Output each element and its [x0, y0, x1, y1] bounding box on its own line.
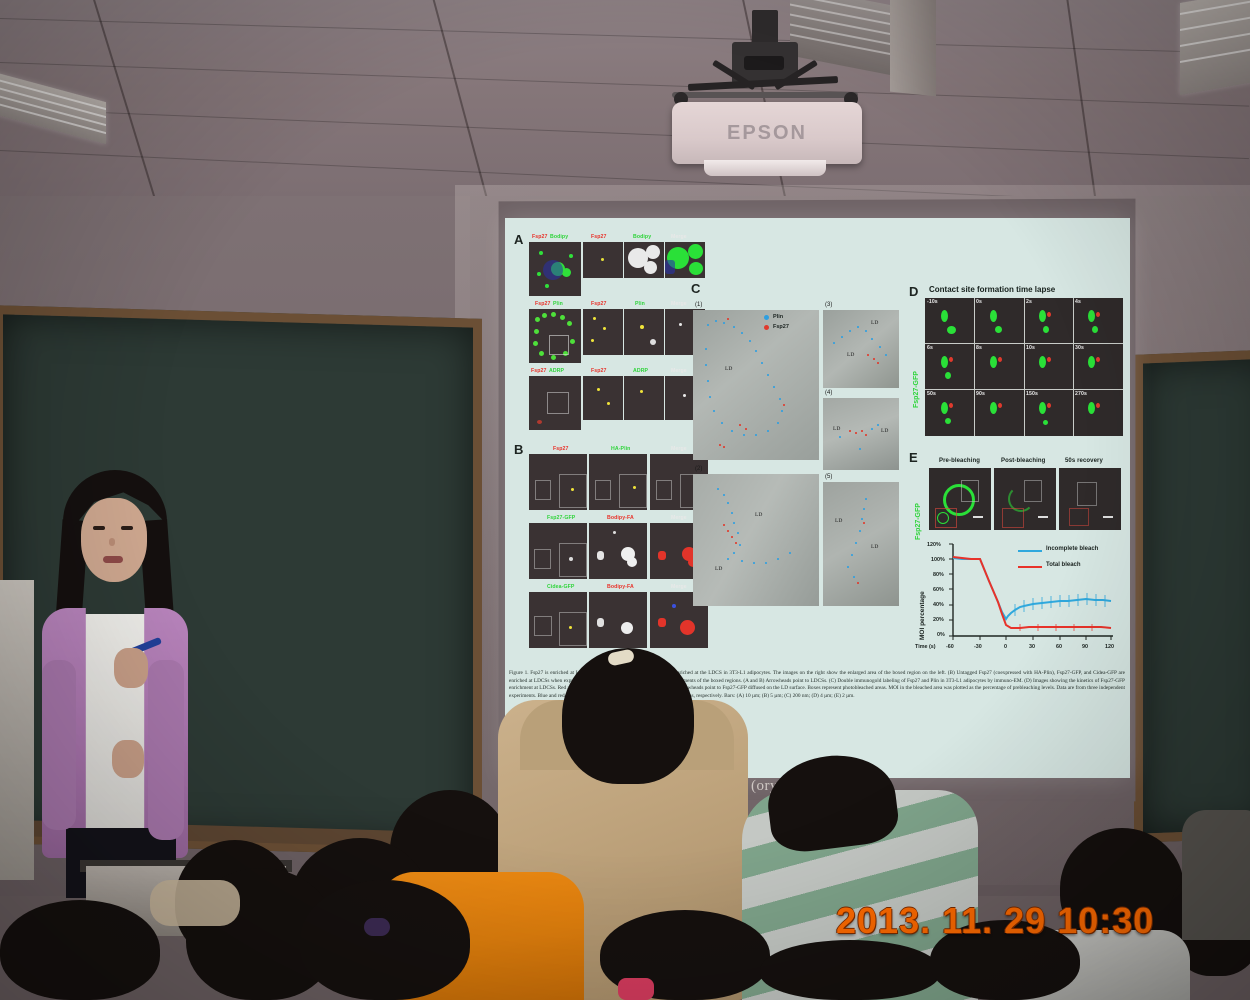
- panel-c-letter: C: [691, 281, 700, 296]
- chart-plot-area: [913, 536, 1123, 664]
- panel-a-r3-col3: Merge: [671, 368, 687, 374]
- chart-legend-line-incomplete: [1018, 550, 1042, 552]
- panel-a-r2-pair-left: Fsp27: [535, 301, 551, 307]
- chart-xtick-90: 90: [1082, 644, 1088, 650]
- projector-brand-label: EPSON: [672, 122, 862, 145]
- micrograph-a2-c1: [583, 309, 623, 355]
- panel-d-t8: 50s: [927, 391, 936, 397]
- photo-canvas: EPSON A Fsp27 Bodipy Fsp27 Bodipy Merge: [0, 0, 1250, 1000]
- micrograph-c2: LD LD: [693, 474, 819, 606]
- projector-lens: [704, 160, 826, 176]
- micrograph-a1-c2: [624, 242, 664, 278]
- chart-legend-incomplete-bleach: Incomplete bleach: [1046, 546, 1098, 552]
- panel-d-t11: 270s: [1075, 391, 1087, 397]
- panel-d-t10: 150s: [1026, 391, 1038, 397]
- micrograph-e-postbleach: [994, 468, 1056, 530]
- panel-d-t7: 30s: [1075, 345, 1084, 351]
- frap-chart: MOI percentage 120% 100% 80% 60% 40% 20%…: [913, 536, 1123, 664]
- micrograph-a1-overview: [529, 242, 581, 296]
- chart-ytick-0: 0%: [937, 632, 945, 638]
- presenter-hand-lower: [112, 740, 144, 778]
- panel-d-axis-label: Fsp27-GFP: [913, 371, 920, 408]
- micrograph-a1-c1: [583, 242, 623, 278]
- audience-head-front-5: [760, 940, 940, 1000]
- chart-xtick-30: 30: [1029, 644, 1035, 650]
- panel-a-r3-col2: ADRP: [633, 368, 648, 374]
- panel-d-t9: 90s: [976, 391, 985, 397]
- chart-xtick--60: -60: [946, 644, 954, 650]
- panel-c4-ld-label-1: LD: [833, 426, 840, 432]
- projector: EPSON: [652, 10, 882, 200]
- panel-e-letter: E: [909, 450, 918, 465]
- panel-c2-ld-label-2: LD: [715, 566, 722, 572]
- panel-a-r1-col3: Merge: [671, 234, 687, 240]
- chart-ytick-20: 20%: [933, 617, 944, 623]
- panel-c5-ld-label-1: LD: [835, 518, 842, 524]
- panel-b-r2-c1: Fsp27-GFP: [547, 515, 575, 521]
- panel-a-r2-pair-right: Plin: [553, 301, 563, 307]
- panel-b-r3-c2: Bodipy-FA: [607, 584, 634, 590]
- ceiling: [0, 0, 1250, 200]
- camera-timestamp: 2013. 11. 29 10:30: [836, 900, 1154, 942]
- projector-support-bar: [672, 92, 858, 98]
- audience-coat-grey-right: [1182, 810, 1250, 940]
- micrograph-c5: LD LD: [823, 482, 899, 606]
- panel-d-letter: D: [909, 284, 918, 299]
- chart-ytick-100: 100%: [931, 557, 945, 563]
- panel-c2-ld-label-1: LD: [755, 512, 762, 518]
- audience-fur-collar: [150, 880, 240, 926]
- micrograph-b3-c1: [529, 592, 587, 648]
- panel-c-sub4-label: (4): [825, 390, 832, 396]
- panel-a-r3-col1: Fsp27: [591, 368, 607, 374]
- micrograph-a3-c2: [624, 376, 664, 420]
- chart-xtick-60: 60: [1056, 644, 1062, 650]
- chart-ytick-60: 60%: [933, 587, 944, 593]
- audience-head-ponytail: [562, 648, 694, 784]
- panel-d-t6: 10s: [1026, 345, 1035, 351]
- panel-a-letter: A: [514, 232, 523, 247]
- panel-d-t5: 8s: [976, 345, 982, 351]
- micrograph-a2-overview: [529, 309, 581, 363]
- panel-b-r3-c1: Cidea-GFP: [547, 584, 574, 590]
- panel-d-t1: 0s: [976, 299, 982, 305]
- panel-e-col1-label: Pre-bleaching: [939, 458, 980, 464]
- legend-swatch-plin: [764, 315, 769, 320]
- micrograph-c4: LD LD: [823, 398, 899, 470]
- audience-head-front-3: [0, 900, 160, 1000]
- panel-b-r2-c3: Merge: [671, 515, 687, 521]
- presenter-arm-right: [148, 660, 184, 840]
- legend-swatch-fsp27: [764, 325, 769, 330]
- chart-xtick--30: -30: [974, 644, 982, 650]
- panel-c-sub5-label: (5): [825, 474, 832, 480]
- micrograph-b2-c1: [529, 523, 587, 579]
- chart-ytick-120: 120%: [927, 542, 941, 548]
- chart-x-axis-title: Time (s): [915, 644, 936, 650]
- panel-a-r3-pair-left: Fsp27: [531, 368, 547, 374]
- panel-d-t4: 6s: [927, 345, 933, 351]
- projector-body: EPSON: [672, 102, 862, 164]
- panel-c4-ld-label-2: LD: [881, 428, 888, 434]
- micrograph-a3-overview: [529, 376, 581, 430]
- panel-c-sub2-label: (2): [695, 466, 702, 472]
- panel-a-r2-col1: Fsp27: [591, 301, 607, 307]
- panel-d-title: Contact site formation time lapse: [929, 285, 1055, 294]
- wall-cabinet: [0, 580, 34, 880]
- audience-head-front-2: [300, 880, 470, 1000]
- ceiling-light-fixture-right: [1180, 0, 1250, 95]
- micrograph-e-prebleach: [929, 468, 991, 530]
- chart-xtick-120: 120: [1105, 644, 1114, 650]
- panel-c-legend-fsp27: Fsp27: [773, 324, 789, 330]
- panel-b-r1-c2: HA-Plin: [611, 446, 630, 452]
- panel-c3-ld-label-2: LD: [847, 352, 854, 358]
- audience-logo-patch: [618, 978, 654, 1000]
- panel-d-timelapse-grid: -10s 0s 2s 4s 6s 8s 10s 30s 50s 90s 150s…: [925, 298, 1123, 436]
- chart-y-axis-title: MOI percentage: [919, 591, 926, 640]
- chart-legend-total-bleach: Total bleach: [1046, 562, 1081, 568]
- panel-b-letter: B: [514, 442, 523, 457]
- panel-e-col2-label: Post-bleaching: [1001, 458, 1045, 464]
- chart-xtick-0: 0: [1004, 644, 1007, 650]
- micrograph-b2-c2: [589, 523, 647, 579]
- micrograph-a2-c2: [624, 309, 664, 355]
- chart-ytick-40: 40%: [933, 602, 944, 608]
- ceiling-light-fixture: [0, 70, 106, 144]
- hair-tie-icon: [364, 918, 390, 936]
- micrograph-b3-c2: [589, 592, 647, 648]
- panel-e-axis-label: Fsp27-GFP: [915, 503, 922, 540]
- chart-ytick-80: 80%: [933, 572, 944, 578]
- panel-b-r1-c1: Fsp27: [553, 446, 569, 452]
- micrograph-b1-c2: [589, 454, 647, 510]
- chart-legend-line-total: [1018, 566, 1042, 568]
- micrograph-a1-c3: [665, 242, 705, 278]
- presenter-arm-left: [42, 660, 76, 830]
- panel-e-col3-label: 50s recovery: [1065, 458, 1103, 464]
- panel-b-r3-c3: Merge: [671, 584, 687, 590]
- panel-a-r2-col2: Plin: [635, 301, 645, 307]
- presenter-face: [81, 498, 147, 582]
- panel-d-t3: 4s: [1075, 299, 1081, 305]
- panel-c-sub1-label: (1): [695, 302, 702, 308]
- panel-d-t0: -10s: [927, 299, 938, 305]
- panel-c-sub3-label: (3): [825, 302, 832, 308]
- micrograph-c1: LD: [693, 310, 819, 460]
- panel-a-r1-pair-left: Fsp27: [532, 234, 548, 240]
- panel-c5-ld-label-2: LD: [871, 544, 878, 550]
- micrograph-b1-c1: [529, 454, 587, 510]
- panel-a-r1-col2: Bodipy: [633, 234, 651, 240]
- panel-a-r1-col1: Fsp27: [591, 234, 607, 240]
- micrograph-c3: LD LD: [823, 310, 899, 388]
- blackboard-right: [1134, 349, 1250, 843]
- panel-c-legend-plin: Plin: [773, 314, 783, 320]
- panel-a-r3-pair-right: ADRP: [549, 368, 564, 374]
- panel-a-r2-col3: Merge: [671, 301, 687, 307]
- panel-c1-ld-label: LD: [725, 366, 732, 372]
- presenter-hand-upper: [114, 648, 148, 688]
- panel-b-r2-c2: Bodipy-FA: [607, 515, 634, 521]
- panel-c3-ld-label-1: LD: [871, 320, 878, 326]
- micrograph-e-recovery: [1059, 468, 1121, 530]
- ceiling-duct: [890, 0, 936, 96]
- panel-d-t2: 2s: [1026, 299, 1032, 305]
- panel-a-r1-pair-right: Bodipy: [550, 234, 568, 240]
- panel-b-r1-c3: Merge: [671, 446, 687, 452]
- micrograph-a3-c1: [583, 376, 623, 420]
